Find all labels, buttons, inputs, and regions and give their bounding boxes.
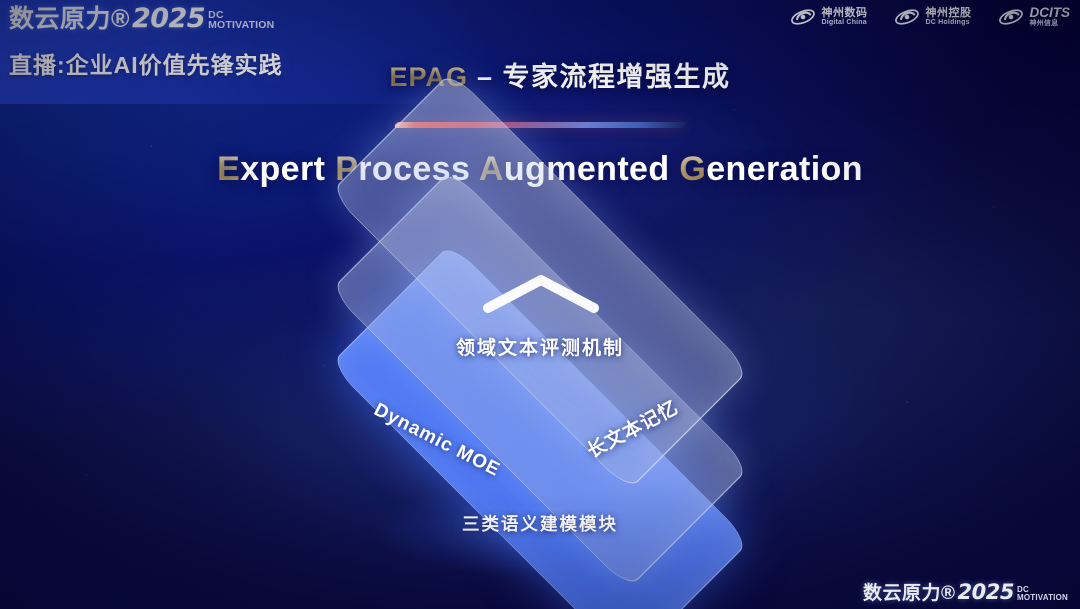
brand-logo-header: 数云原力®2025 DC MOTIVATION <box>9 5 274 32</box>
swirl-logo-icon <box>998 6 1024 28</box>
partner-logo-group: 神州数码 Digital China 神州控股 DC Holdings <box>790 6 1071 28</box>
chevron-up-icon <box>482 272 600 314</box>
subtitle-cap-a: A <box>479 150 504 188</box>
brand-registered-mark: ® <box>941 584 956 603</box>
partner-name-cn: 神州数码 <box>822 8 868 20</box>
brand-tagline: DC MOTIVATION <box>208 10 274 31</box>
partner-name-en: Digital China <box>822 19 868 26</box>
brand-year: 2025 <box>958 582 1014 603</box>
swirl-logo-icon <box>790 6 816 28</box>
partner-name-cn: 神州控股 <box>926 8 972 20</box>
partner-logo-dc-holdings: 神州控股 DC Holdings <box>894 6 972 28</box>
partner-name-cn: 神州信息 <box>1030 20 1071 27</box>
brand-tagline-line2: MOTIVATION <box>208 20 274 31</box>
diagram-layer-bottom-label: 三类语义建模模块 <box>0 511 1080 536</box>
brand-tagline-line2: MOTIVATION <box>1017 594 1068 602</box>
subtitle-word-expert: xpert <box>240 150 325 188</box>
brand-year: 2025 <box>132 5 205 32</box>
subtitle-cap-e: E <box>217 150 240 188</box>
swirl-logo-icon <box>894 6 920 28</box>
subtitle-word-generation: eneration <box>706 150 863 188</box>
page-title-rest: – 专家流程增强生成 <box>468 62 731 92</box>
brand-name-cn: 数云原力 <box>9 7 111 32</box>
title-accent-bar <box>394 122 687 128</box>
partner-name: 神州控股 DC Holdings <box>926 8 972 27</box>
partner-name-en: DC Holdings <box>926 19 972 26</box>
diagram-layer-top-label: 领域文本评测机制 <box>0 333 1080 360</box>
partner-name: 神州数码 Digital China <box>822 8 868 27</box>
brand-tagline: DC MOTIVATION <box>1017 586 1068 602</box>
page-subtitle: Expert Process Augmented Generation <box>0 150 1080 189</box>
brand-registered-mark: ® <box>111 7 130 32</box>
subtitle-cap-p: P <box>335 150 358 188</box>
page-title-acronym: EPAG <box>389 62 468 92</box>
slide-canvas: 数云原力®2025 DC MOTIVATION 直播:企业AI价值先锋实践 神州… <box>0 0 1080 609</box>
subtitle-cap-g: G <box>679 150 706 188</box>
partner-logo-dcits: DCITS 神州信息 <box>998 6 1071 28</box>
subtitle-word-process: rocess <box>358 150 470 188</box>
partner-name-en: DCITS <box>1030 6 1071 20</box>
brand-logo-watermark: 数云原力®2025 DC MOTIVATION <box>863 582 1068 603</box>
partner-logo-digital-china: 神州数码 Digital China <box>790 6 868 28</box>
page-title: EPAG – 专家流程增强生成 <box>0 55 1080 94</box>
subtitle-word-augmented: ugmented <box>504 150 670 188</box>
brand-name-cn: 数云原力 <box>863 584 941 603</box>
partner-name: DCITS 神州信息 <box>1030 6 1071 28</box>
